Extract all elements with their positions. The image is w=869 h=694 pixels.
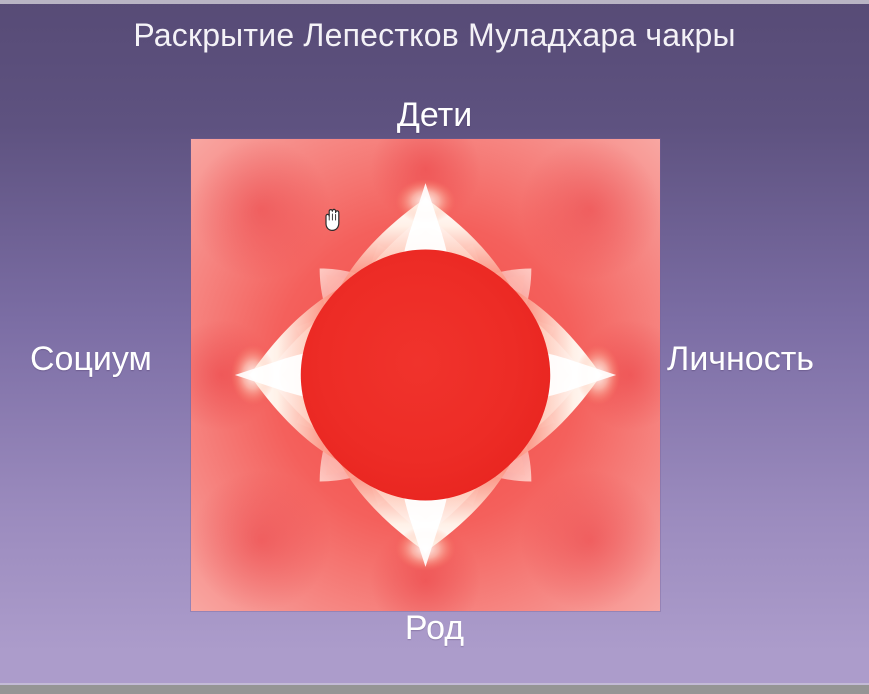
page-title: Раскрытие Лепестков Муладхара чакры (0, 17, 869, 54)
bottom-edge-strip (0, 685, 869, 694)
petal-label-top: Дети (0, 96, 869, 135)
petal-label-bottom: Род (0, 609, 869, 648)
chakra-image[interactable] (191, 139, 660, 611)
top-edge-strip (0, 0, 869, 4)
petal-label-left: Социум (30, 340, 152, 379)
presentation-slide: Раскрытие Лепестков Муладхара чакры Дети… (0, 0, 869, 694)
petal-label-right: Личность (667, 340, 814, 379)
lotus-mandala-graphic (191, 139, 660, 611)
